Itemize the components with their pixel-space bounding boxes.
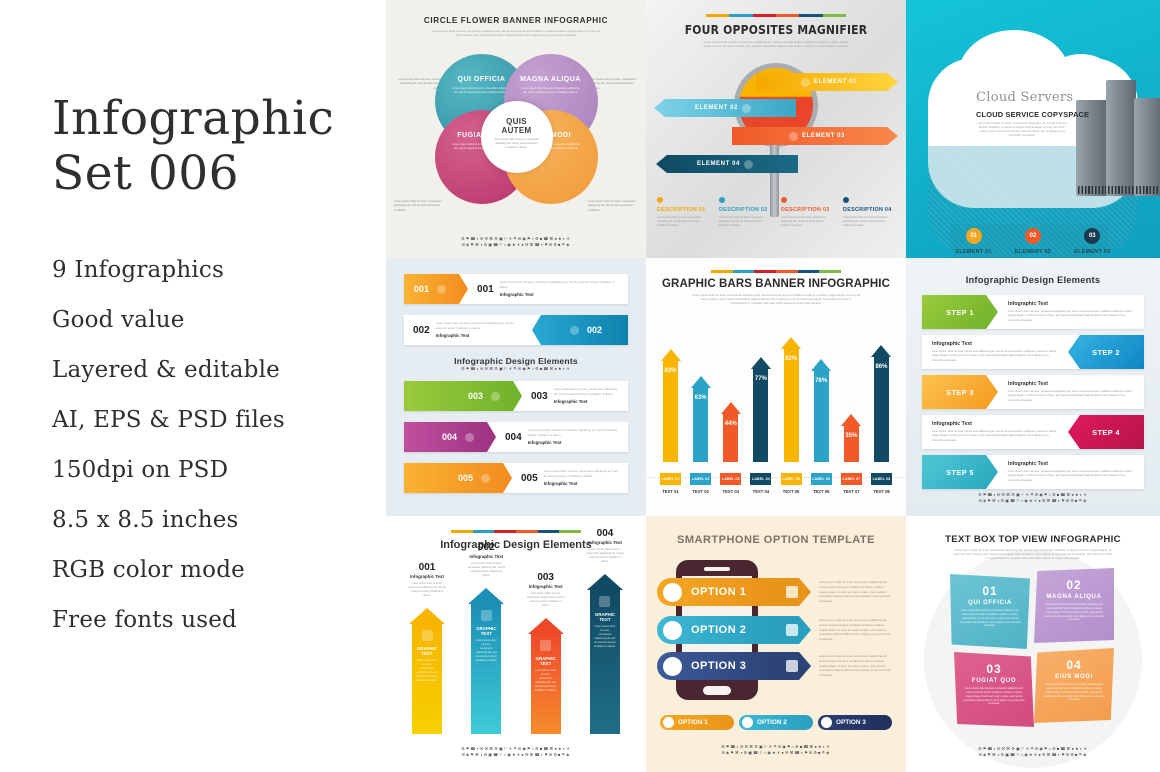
column-caption: 003Infographic TextLorem ipsum dolor sit… [521, 572, 571, 608]
cloud-graphic: Cloud Servers CLOUD SERVICE COPYSPACE Lo… [928, 28, 1138, 218]
step-item-3[interactable]: STEP 3 Infographic Text Lorem ipsum dolo… [922, 375, 1144, 409]
bar-tip-icon [871, 345, 891, 357]
infographic-four-opposites-magnifier: FOUR OPPOSITES MAGNIFIER Lorem ipsum dol… [646, 0, 906, 258]
step-item-2[interactable]: Infographic Text Lorem ipsum dolor sit a… [922, 335, 1144, 369]
bar-category-label: LABEL 04 [750, 473, 771, 485]
banners-title: Infographic Design Elements [404, 356, 628, 366]
description-04: DESCRIPTION 04 Lorem ipsum dolor sit ame… [838, 197, 900, 228]
column-caption: 001Infographic TextLorem ipsum dolor sit… [402, 562, 452, 598]
infographic-graphic-bars: GRAPHIC BARS BANNER INFOGRAPHIC Lorem ip… [646, 258, 906, 516]
element-label: ELEMENT 02 [695, 105, 738, 111]
bar-category-label: LABEL 01 [660, 473, 681, 485]
step-text: Lorem ipsum dolor sit amet, consectetur … [1008, 310, 1134, 322]
server-icon [1106, 80, 1136, 196]
option-label: OPTION 1 [691, 586, 746, 598]
glyph-row: ⚙⚑☎◐✉⚒⌘⚙▣⚐☀☂✉◉⚑⌂⚙■☎⌘●★◐☀ ✉◈⚑⌘◑⚙▣☎⚐⌂◉★☀●⚒… [906, 492, 1160, 504]
infographic-steps: Infographic Design Elements STEP 1 Infog… [906, 258, 1160, 516]
element-arrow-01[interactable]: ELEMENT 01 [756, 73, 898, 91]
magnifier-graphic: ELEMENT 01 ELEMENT 02 ELEMENT 03 ELEMENT… [646, 57, 906, 197]
bar-label-group: LABEL 01TEXT 01 [660, 473, 681, 494]
description-text: Lorem ipsum dolor sit amet, consectetur … [657, 216, 709, 228]
graphic-label: GRAPHIC TEXT [590, 612, 620, 622]
bar-category-label: LABEL 07 [841, 473, 862, 485]
column-heading: Infographic Text [402, 574, 452, 579]
banner-text: Lorem ipsum dolor sit amet, consectetur … [544, 470, 619, 478]
bar-value-label: 77% [753, 376, 768, 382]
step-heading: Infographic Text [1008, 301, 1134, 307]
bar-8[interactable]: 86% [871, 345, 892, 462]
bar-value-label: 63% [693, 395, 708, 401]
glyph-line: ✉◈⚑⌘◑⚙▣☎⚐⌂◉★☀●⚒⌘☎◐⚑✉⚙■☂◈ [906, 752, 1160, 758]
element-label: ELEMENT 03 [802, 133, 845, 139]
step-heading: Infographic Text [932, 341, 1058, 347]
banner-text: Lorem ipsum dolor sit amet, consectetur … [436, 322, 523, 330]
arrow-tip-icon [409, 608, 445, 624]
column-text: Lorem ipsum dolor sit amet, consectetur … [580, 548, 630, 564]
column-text: Lorem ipsum dolor sit amet, consectetur … [461, 562, 511, 578]
arrow-body: GRAPHIC TEXTLorem ipsum dolor sit amet, … [471, 604, 501, 734]
bar-6[interactable]: 76% [811, 359, 832, 462]
badge-number: 02 [1025, 228, 1041, 244]
building-icon [540, 640, 551, 651]
infographic-circle-flower: CIRCLE FLOWER BANNER INFOGRAPHIC Lorem i… [386, 0, 646, 258]
flower-diagram: QUI OFFICIA Lorem ipsum dolor sit amet, … [429, 54, 604, 204]
element-label: ELEMENT 03 [1063, 249, 1122, 255]
feature-item: 150dpi on PSD [52, 459, 386, 482]
banner-number: 002 [413, 325, 430, 336]
banner-005[interactable]: 005 005 Lorem ipsum dolor sit amet, cons… [404, 463, 628, 493]
description-title: DESCRIPTION 04 [843, 207, 895, 213]
arrow-tip-icon [528, 618, 564, 634]
bar-body: 44% [723, 414, 738, 462]
column-heading: Infographic Text [580, 540, 630, 545]
bar-value-label: 35% [844, 433, 859, 439]
bar-label-group: LABEL 05TEXT 05 [781, 473, 802, 494]
flower-center: QUIS AUTEM Lorem ipsum dolor sit amet, c… [481, 101, 553, 173]
column-text: Lorem ipsum dolor sit amet, consectetur … [521, 592, 571, 608]
banner-tag-number: 003 [468, 391, 483, 401]
lock-icon [437, 285, 446, 294]
text-box-03[interactable]: 03 FUGIAT QUO Lorem ipsum dolor sit amet… [954, 652, 1034, 727]
infographic-set-preview: Infographic Set 006 9 Infographics Good … [0, 0, 1160, 772]
home-button-icon [703, 686, 731, 695]
box-label: EIUS MODI [1034, 674, 1114, 680]
banner-subtitle: Infographic Text [500, 292, 619, 297]
bar-body: 83% [663, 361, 678, 462]
feature-item: Good value [52, 309, 386, 332]
banner-002[interactable]: 002 Lorem ipsum dolor sit amet, consecte… [404, 315, 628, 345]
step-text: Lorem ipsum dolor sit amet, consectetur … [932, 430, 1058, 442]
bar-2[interactable]: 63% [690, 376, 711, 462]
banner-tag: 001 [404, 274, 468, 304]
text-box-grid: 01 QUI OFFICIA Lorem ipsum dolor sit ame… [950, 574, 1120, 734]
glyph-line: ✉◈⚑⌘◑⚙▣☎⚐⌂◉★☀●⚒⌘☎◐⚑✉⚙■☂◈ [646, 750, 906, 756]
column-arrow: GRAPHIC TEXTLorem ipsum dolor sit amet, … [587, 574, 623, 734]
bar-label-group: LABEL 07TEXT 07 [841, 473, 862, 494]
text-box-01[interactable]: 01 QUI OFFICIA Lorem ipsum dolor sit ame… [950, 574, 1030, 649]
bar-tick-label: TEXT 01 [660, 489, 681, 494]
text-box-subtitle: Lorem ipsum dolor sit amet, consectetur … [953, 549, 1113, 561]
option-pill-row: OPTION 1 OPTION 2 OPTION 3 [660, 715, 892, 730]
cloud-element-row: 01 ELEMENT 01 Lorem ipsum dolor sit amet… [944, 228, 1122, 258]
banner-text: Lorem ipsum dolor sit amet, consectetur … [500, 281, 619, 289]
glyph-line: ✉◈⚑⌘◑⚙▣☎⚐⌂◉★☀●⚒⌘☎◐⚑✉⚙■☂◈ [906, 498, 1160, 504]
column-heading: Infographic Text [521, 584, 571, 589]
cloud-element-01[interactable]: 01 ELEMENT 01 Lorem ipsum dolor sit amet… [944, 228, 1003, 258]
feature-item: AI, EPS & PSD files [52, 409, 386, 432]
bar-tip-icon [751, 357, 771, 369]
bar-4[interactable]: 77% [750, 357, 771, 462]
banner-004[interactable]: 004 004 Lorem ipsum dolor sit amet, cons… [404, 422, 628, 452]
option-label: OPTION 2 [691, 624, 746, 636]
feature-item: 9 Infographics [52, 259, 386, 282]
column-heading: Infographic Text [461, 554, 511, 559]
banner-003[interactable]: 003 003 Lorem ipsum dolor sit amet, cons… [404, 381, 628, 411]
people-icon [481, 610, 492, 621]
pill-bullet [742, 717, 753, 728]
option-bullet [663, 657, 682, 676]
infographic-cloud-servers: Cloud Servers CLOUD SERVICE COPYSPACE Lo… [906, 0, 1160, 258]
bar-tick-label: TEXT 07 [841, 489, 862, 494]
circle-flower-title: CIRCLE FLOWER BANNER INFOGRAPHIC [386, 16, 646, 25]
banner-subtitle: Infographic Text [436, 333, 523, 338]
vertical-column-004[interactable]: 004Infographic TextLorem ipsum dolor sit… [580, 564, 630, 734]
option-row-2[interactable]: OPTION 2 Lorem ipsum dolor sit amet, con… [657, 616, 891, 644]
bullet-dot [719, 197, 725, 203]
bar-tip-icon [811, 359, 831, 371]
bar-3[interactable]: 44% [720, 402, 741, 462]
element-arrow-03[interactable]: ELEMENT 03 [732, 127, 898, 145]
glyph-row: ⚙⚑☎◐✉⚒⌘⚙▣⚐☀☂✉◉⚑⌂⚙■☎⌘●★◐☀ ✉◈⚑⌘◑⚙▣☎⚐⌂◉★☀●⚒… [386, 236, 646, 248]
magnifier-title: FOUR OPPOSITES MAGNIFIER [646, 23, 906, 37]
speaker-icon [704, 567, 730, 571]
banner-tag-number: 005 [458, 473, 473, 483]
description-text: Lorem ipsum dolor sit amet, consectetur … [843, 216, 895, 228]
option-row-1[interactable]: OPTION 1 Lorem ipsum dolor sit amet, con… [657, 578, 891, 606]
option-label: OPTION 3 [691, 660, 746, 672]
center-line-1: QUIS [506, 117, 527, 126]
description-text: Lorem ipsum dolor sit amet, consectetur … [781, 216, 833, 228]
step-tag: STEP 3 [922, 375, 998, 409]
cloud-element-02[interactable]: 02 ELEMENT 02 Lorem ipsum dolor sit amet… [1003, 228, 1062, 258]
badge-number: 03 [1084, 228, 1100, 244]
banner-text: Lorem ipsum dolor sit amet, consectetur … [554, 388, 619, 396]
step-item-4[interactable]: Infographic Text Lorem ipsum dolor sit a… [922, 415, 1144, 449]
banner-number: 005 [521, 473, 538, 484]
color-topbar [451, 530, 581, 533]
option-bullet [663, 621, 682, 640]
step-heading: Infographic Text [1008, 381, 1134, 387]
step-item-1[interactable]: STEP 1 Infographic Text Lorem ipsum dolo… [922, 295, 1144, 329]
box-number: 01 [950, 584, 1030, 598]
bar-category-label: LABEL 05 [781, 473, 802, 485]
section-heading: Infographic Design Elements ⚙⚑☎◐✉⚒⌘⚙▣⚐☀☂… [404, 356, 628, 372]
bar-tick-label: TEXT 05 [781, 489, 802, 494]
bar-tip-icon [661, 349, 681, 361]
bullet-dot [843, 197, 849, 203]
vertical-arrow-columns: 001Infographic TextLorem ipsum dolor sit… [402, 564, 630, 734]
element-arrow-04[interactable]: ELEMENT 04 [656, 155, 798, 173]
arrow-tip-icon [468, 588, 504, 604]
description-title: DESCRIPTION 01 [657, 207, 709, 213]
chart-icon [789, 132, 798, 141]
infographic-vertical-arrows: Infographic Design Elements 001Infograph… [386, 516, 646, 772]
arrow-body: GRAPHIC TEXTLorem ipsum dolor sit amet, … [531, 634, 561, 734]
arrow-tip-icon [587, 574, 623, 590]
banner-number: 003 [531, 391, 548, 402]
power-icon [465, 433, 474, 442]
banner-tag-number: 002 [587, 325, 602, 335]
cloud-title: Cloud Servers [976, 90, 1073, 105]
cloud-element-03[interactable]: 03 ELEMENT 03 Lorem ipsum dolor sit amet… [1063, 228, 1122, 258]
vertical-column-002[interactable]: 002Infographic TextLorem ipsum dolor sit… [461, 564, 511, 734]
column-text: Lorem ipsum dolor sit amet, consectetur … [402, 582, 452, 598]
step-tag: STEP 1 [922, 295, 998, 329]
bar-value-label: 83% [663, 368, 678, 374]
bar-tip-icon [781, 337, 801, 349]
banner-tag: 004 [404, 422, 496, 452]
bar-value-label: 44% [723, 421, 738, 427]
grid-icon [422, 630, 433, 641]
glyph-row: ⚙⚑☎◐✉⚒⌘⚙▣⚐☀☂✉◉⚑⌂⚙■☎⌘●★◐☀ [404, 366, 628, 372]
bar-body: 63% [693, 388, 708, 462]
description-title: DESCRIPTION 03 [781, 207, 833, 213]
thumbsup-icon [786, 660, 798, 672]
bar-body: 77% [753, 369, 768, 462]
bar-label-group: LABEL 02TEXT 02 [690, 473, 711, 494]
option-pill-1[interactable]: OPTION 1 [660, 715, 734, 730]
bar-tip-icon [841, 414, 861, 426]
step-text: Lorem ipsum dolor sit amet, consectetur … [932, 350, 1058, 362]
column-number: 002 [461, 542, 511, 553]
badge-number: 01 [966, 228, 982, 244]
vertical-column-001[interactable]: 001Infographic TextLorem ipsum dolor sit… [402, 564, 452, 734]
glyph-line: ✉◈⚑⌘◑⚙▣☎⚐⌂◉★☀●⚒⌘☎◐⚑✉⚙■☂◈ [386, 752, 646, 758]
bar-value-label: 76% [814, 378, 829, 384]
description-row: DESCRIPTION 01 Lorem ipsum dolor sit ame… [652, 197, 900, 228]
infographic-numbered-banners: 001 001 Lorem ipsum dolor sit amet, cons… [386, 258, 646, 516]
box-number: 04 [1034, 658, 1114, 672]
bullet-dot [781, 197, 787, 203]
pill-bullet [663, 717, 674, 728]
chart-icon [599, 596, 610, 607]
option-row-3[interactable]: OPTION 3 Lorem ipsum dolor sit amet, con… [657, 652, 891, 680]
target-icon [786, 624, 798, 636]
bar-label-group: LABEL 06TEXT 06 [811, 473, 832, 494]
infographic-smartphone-options: SMARTPHONE OPTION TEMPLATE OPTION 1 Lore… [646, 516, 906, 772]
element-label: ELEMENT 01 [944, 249, 1003, 255]
chart-icon [491, 392, 500, 401]
box-label: QUI OFFICIA [950, 600, 1030, 606]
element-arrow-02[interactable]: ELEMENT 02 [654, 99, 796, 117]
bar-chart-labels: LABEL 01TEXT 01LABEL 02TEXT 02LABEL 03TE… [660, 473, 892, 494]
step-list: STEP 1 Infographic Text Lorem ipsum dolo… [906, 285, 1160, 489]
bar-category-label: LABEL 02 [690, 473, 711, 485]
glyph-row: ⚙⚑☎◐✉⚒⌘⚙▣⚐☀☂✉◉⚑⌂⚙■☎⌘●★◐☀ ✉◈⚑⌘◑⚙▣☎⚐⌂◉★☀●⚒… [386, 746, 646, 758]
text-box-04[interactable]: 04 EIUS MODI Lorem ipsum dolor sit amet,… [1034, 648, 1114, 723]
element-label: ELEMENT 02 [1003, 249, 1062, 255]
center-line-2: AUTEM [502, 126, 532, 135]
person-icon [742, 104, 751, 113]
circle-flower-subtitle: Lorem ipsum dolor sit amet, consectetur … [431, 30, 601, 38]
bar-body: 76% [814, 371, 829, 462]
step-heading: Infographic Text [1008, 461, 1134, 467]
box-text: Lorem ipsum dolor sit amet, consectetur … [1034, 603, 1114, 622]
bar-1[interactable]: 83% [660, 349, 681, 462]
infographic-grid: CIRCLE FLOWER BANNER INFOGRAPHIC Lorem i… [386, 0, 1160, 772]
petal-text: Lorem ipsum dolor sit amet, consectetur … [520, 87, 582, 95]
bar-tip-icon [721, 402, 741, 414]
description-title: DESCRIPTION 02 [719, 207, 771, 213]
bars-title: GRAPHIC BARS BANNER INFOGRAPHIC [646, 278, 906, 290]
element-label: ELEMENT 04 [697, 161, 740, 167]
feature-item: Free fonts used [52, 609, 386, 632]
box-label: MAGNA ALIQUA [1034, 594, 1114, 600]
option-pill-3[interactable]: OPTION 3 [818, 715, 892, 730]
column-number: 001 [402, 562, 452, 573]
banner-subtitle: Infographic Text [528, 440, 619, 445]
bar-tip-icon [691, 376, 711, 388]
step-text: Lorem ipsum dolor sit amet, consectetur … [1008, 470, 1134, 482]
bar-tick-label: TEXT 04 [750, 489, 771, 494]
banner-tag-number: 004 [442, 432, 457, 442]
pill-label: OPTION 3 [836, 719, 866, 726]
bar-label-group: LABEL 08TEXT 08 [871, 473, 892, 494]
banner-tag: 002 [532, 315, 628, 345]
step-tag: STEP 4 [1068, 415, 1144, 449]
graphic-label: GRAPHIC TEXT [531, 656, 561, 666]
banner-text: Lorem ipsum dolor sit amet, consectetur … [528, 429, 619, 437]
feature-item: Layered & editable [52, 359, 386, 382]
description-text: Lorem ipsum dolor sit amet, consectetur … [719, 216, 771, 228]
graphic-text: Lorem ipsum dolor sit amet, consectetur … [590, 625, 620, 649]
description-03: DESCRIPTION 03 Lorem ipsum dolor sit ame… [776, 197, 838, 228]
column-arrow: GRAPHIC TEXTLorem ipsum dolor sit amet, … [528, 618, 564, 734]
step-text: Lorem ipsum dolor sit amet, consectetur … [1008, 390, 1134, 402]
banner-tag-number: 001 [414, 284, 429, 294]
title-line-2: Set 006 [52, 146, 239, 201]
element-label: ELEMENT 01 [814, 79, 857, 85]
steps-title: Infographic Design Elements [906, 274, 1160, 285]
step-heading: Infographic Text [932, 421, 1058, 427]
cloud-text: Lorem ipsum dolor sit amet, consectetur … [976, 122, 1068, 138]
smartphone-title: SMARTPHONE OPTION TEMPLATE [646, 534, 906, 546]
column-arrow: GRAPHIC TEXTLorem ipsum dolor sit amet, … [409, 608, 445, 734]
option-text: Lorem ipsum dolor sit amet, consectetur … [819, 618, 891, 642]
graphic-text: Lorem ipsum dolor sit amet, consectetur … [531, 669, 561, 693]
text-box-title: TEXT BOX TOP VIEW INFOGRAPHIC [906, 534, 1160, 545]
box-number: 02 [1034, 578, 1114, 592]
box-text: Lorem ipsum dolor sit amet, consectetur … [1034, 683, 1114, 702]
bar-value-label: 92% [784, 356, 799, 362]
box-number: 03 [954, 662, 1034, 676]
description-02: DESCRIPTION 02 Lorem ipsum dolor sit ame… [714, 197, 776, 228]
banner-subtitle: Infographic Text [544, 481, 619, 486]
box-text: Lorem ipsum dolor sit amet, consectetur … [954, 687, 1034, 706]
bar-label-group: LABEL 04TEXT 04 [750, 473, 771, 494]
bar-value-label: 86% [874, 364, 889, 370]
color-topbar [706, 14, 846, 17]
graphic-label: GRAPHIC TEXT [412, 646, 442, 656]
feature-list: 9 Infographics Good value Layered & edit… [52, 259, 386, 632]
lock-icon [786, 586, 798, 598]
bar-tick-label: TEXT 06 [811, 489, 832, 494]
column-arrow: GRAPHIC TEXTLorem ipsum dolor sit amet, … [468, 588, 504, 734]
server-icon [1134, 98, 1160, 196]
column-caption: 002Infographic TextLorem ipsum dolor sit… [461, 542, 511, 578]
bar-tick-label: TEXT 03 [720, 489, 741, 494]
vertical-column-003[interactable]: 003Infographic TextLorem ipsum dolor sit… [521, 564, 571, 734]
column-caption: 004Infographic TextLorem ipsum dolor sit… [580, 528, 630, 564]
pill-label: OPTION 1 [678, 719, 708, 726]
description-01: DESCRIPTION 01 Lorem ipsum dolor sit ame… [652, 197, 714, 228]
pill-label: OPTION 2 [757, 719, 787, 726]
bar-tick-label: TEXT 02 [690, 489, 711, 494]
infographic-text-box-top-view: TEXT BOX TOP VIEW INFOGRAPHIC Lorem ipsu… [906, 516, 1160, 772]
banner-tag: 005 [404, 463, 512, 493]
box-text: Lorem ipsum dolor sit amet, consectetur … [950, 609, 1030, 628]
step-item-5[interactable]: STEP 5 Infographic Text Lorem ipsum dolo… [922, 455, 1144, 489]
arrow-body: GRAPHIC TEXTLorem ipsum dolor sit amet, … [590, 590, 620, 734]
option-text: Lorem ipsum dolor sit amet, consectetur … [819, 654, 891, 678]
bar-chart: 83%63%44%77%92%76%35%86% [660, 322, 892, 462]
petal-text: Lorem ipsum dolor sit amet, consectetur … [451, 87, 513, 95]
bar-tick-label: TEXT 08 [871, 489, 892, 494]
bar-category-label: LABEL 08 [871, 473, 892, 485]
arrow-body: GRAPHIC TEXTLorem ipsum dolor sit amet, … [412, 624, 442, 734]
graphic-text: Lorem ipsum dolor sit amet, consectetur … [412, 659, 442, 683]
step-tag: STEP 2 [1068, 335, 1144, 369]
graphic-label: GRAPHIC TEXT [471, 626, 501, 636]
banner-001[interactable]: 001 001 Lorem ipsum dolor sit amet, cons… [404, 274, 628, 304]
promo-panel: Infographic Set 006 9 Infographics Good … [0, 0, 386, 772]
bullet-dot [657, 197, 663, 203]
glyph-line: ⚙⚑☎◐✉⚒⌘⚙▣⚐☀☂✉◉⚑⌂⚙■☎⌘●★◐☀ [404, 366, 628, 372]
column-number: 003 [521, 572, 571, 583]
power-icon [570, 326, 579, 335]
clock-icon [801, 78, 810, 87]
petal-label: MAGNA ALIQUA [504, 76, 598, 83]
shield-icon [744, 160, 753, 169]
person-icon [481, 474, 490, 483]
text-box-02[interactable]: 02 MAGNA ALIQUA Lorem ipsum dolor sit am… [1034, 568, 1114, 643]
box-label: FUGIAT QUO [954, 678, 1034, 684]
magnifier-subtitle: Lorem ipsum dolor sit amet, consectetur … [701, 41, 851, 49]
column-number: 004 [580, 528, 630, 539]
bars-subtitle: Lorem ipsum dolor sit amet, consectetur … [692, 294, 860, 306]
glyph-line: ✉◈⚑⌘◑⚙▣☎⚐⌂◉★☀●⚒⌘☎◐⚑✉⚙■☂◈ [386, 242, 646, 248]
option-pill-2[interactable]: OPTION 2 [739, 715, 813, 730]
banner-subtitle: Infographic Text [554, 399, 619, 404]
pill-bullet [821, 717, 832, 728]
glyph-row: ⚙⚑☎◐✉⚒⌘⚙▣⚐☀☂✉◉⚑⌂⚙■☎⌘●★◐☀ ✉◈⚑⌘◑⚙▣☎⚐⌂◉★☀●⚒… [646, 744, 906, 756]
center-text: Lorem ipsum dolor sit amet, consectetur … [494, 138, 540, 149]
title-line-1: Infographic [52, 91, 334, 146]
step-tag: STEP 5 [922, 455, 998, 489]
bar-7[interactable]: 35% [841, 414, 862, 462]
bar-category-label: LABEL 06 [811, 473, 832, 485]
glyph-row: ⚙⚑☎◐✉⚒⌘⚙▣⚐☀☂✉◉⚑⌂⚙■☎⌘●★◐☀ ✉◈⚑⌘◑⚙▣☎⚐⌂◉★☀●⚒… [906, 746, 1160, 758]
bar-body: 86% [874, 357, 889, 462]
graphic-text: Lorem ipsum dolor sit amet, consectetur … [471, 639, 501, 663]
bar-category-label: LABEL 03 [720, 473, 741, 485]
banner-number: 001 [477, 284, 494, 295]
page-title: Infographic Set 006 [52, 92, 386, 201]
option-bullet [663, 583, 682, 602]
bar-5[interactable]: 92% [781, 337, 802, 462]
bar-body: 92% [784, 349, 799, 462]
feature-item: RGB color mode [52, 559, 386, 582]
